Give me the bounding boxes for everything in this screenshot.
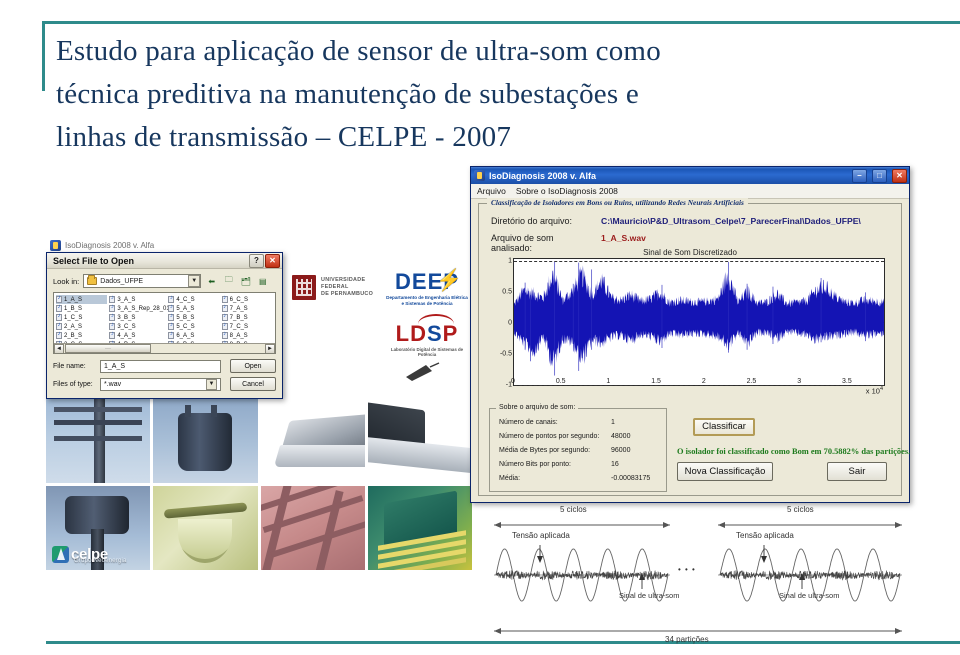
waveform-band xyxy=(514,265,884,367)
wav-file-icon xyxy=(168,305,174,312)
file-list-item[interactable]: 4_C_S xyxy=(168,295,219,304)
directory-label: Diretório do arquivo: xyxy=(491,216,595,226)
file-dialog-titlebar: Select File to Open ? ✕ xyxy=(47,253,282,269)
logos-panel: UNIVERSIDADE FEDERAL DE PERNAMBUCO DEEP … xyxy=(284,265,472,400)
file-list-item-label: 5_B_S xyxy=(176,315,194,321)
stat-value: 96000 xyxy=(611,447,630,454)
scrollbar-thumb[interactable]: ··· xyxy=(65,344,151,353)
file-list-column: 6_C_S7_A_S7_B_S7_C_S8_A_S8_B_S xyxy=(222,295,273,349)
file-list-item[interactable]: 1_B_S xyxy=(56,304,107,313)
file-name-input[interactable]: 1_A_S xyxy=(100,360,221,373)
directory-row: Diretório do arquivo: C:\Mauricio\P&D_Ul… xyxy=(491,216,861,226)
file-list-item-label: 8_A_S xyxy=(230,333,248,339)
ldsp-p: P xyxy=(443,321,459,346)
file-list-item-label: 3_A_S xyxy=(117,297,135,303)
ufpe-logo: UNIVERSIDADE FEDERAL DE PERNAMBUCO xyxy=(292,275,373,300)
file-list[interactable]: 1_A_S1_B_S1_C_S2_A_S2_B_S2_C_S3_A_S3_A_S… xyxy=(53,292,276,354)
files-of-type-label: Files of type: xyxy=(53,381,95,388)
file-list-item[interactable]: 7_C_S xyxy=(222,322,273,331)
classification-result-text: O isolador foi classificado como Bom em … xyxy=(677,447,910,456)
file-list-item[interactable]: 7_B_S xyxy=(222,313,273,322)
look-in-combobox[interactable]: Dados_UFPE ▼ xyxy=(83,274,201,288)
file-list-hscrollbar[interactable]: ◄ ··· ► xyxy=(54,343,275,353)
file-list-item-label: 1_C_S xyxy=(64,315,82,321)
file-list-item-label: 4_A_S xyxy=(117,333,135,339)
exit-button[interactable]: Sair xyxy=(827,462,887,481)
menu-item-arquivo[interactable]: Arquivo xyxy=(477,186,506,196)
stat-row: Média:-0.00083175 xyxy=(499,475,660,482)
ufpe-crest-icon xyxy=(292,275,316,300)
left-accent-rule xyxy=(42,21,45,91)
ellipsis-label: • • • xyxy=(678,565,696,574)
wav-file-icon xyxy=(56,305,62,312)
deep-wordmark: DEEP ⚡ xyxy=(384,271,470,293)
file-list-item-label: 6_C_S xyxy=(230,297,248,303)
stats-legend: Sobre o arquivo de som: xyxy=(496,404,578,411)
app-icon xyxy=(474,170,485,181)
photo-tower xyxy=(261,486,365,571)
stat-row: Número de pontos por segundo:48000 xyxy=(499,433,660,440)
celpe-mark-icon xyxy=(52,546,69,563)
wav-file-icon xyxy=(109,332,115,339)
ufpe-logo-text: UNIVERSIDADE FEDERAL DE PERNAMBUCO xyxy=(321,277,373,298)
chart-waveform xyxy=(514,259,884,377)
file-name-row: File name: 1_A_S Open xyxy=(53,359,276,373)
wav-file-icon xyxy=(168,332,174,339)
files-of-type-select[interactable]: *.wav ▼ xyxy=(100,378,221,391)
look-in-value: Dados_UFPE xyxy=(100,278,143,285)
app-title: IsoDiagnosis 2008 v. Alfa xyxy=(489,171,596,181)
wav-file-icon xyxy=(109,323,115,330)
photo-laptop-right xyxy=(368,398,472,483)
x-tick: 2 xyxy=(702,378,706,385)
cycle-diagram-svg xyxy=(482,503,914,643)
file-list-item[interactable]: 7_A_S xyxy=(222,304,273,313)
maximize-icon[interactable]: □ xyxy=(872,169,887,183)
stat-key: Número Bits por ponto: xyxy=(499,461,611,468)
help-button[interactable]: ? xyxy=(249,254,264,268)
app-window-icon xyxy=(50,240,61,251)
signal-chart: Sinal de Som Discretizado 1 0.5 0 -0.5 xyxy=(489,248,891,398)
file-list-item-label: 6_A_S xyxy=(176,333,194,339)
file-list-item[interactable]: 2_A_S xyxy=(56,322,107,331)
wav-file-icon xyxy=(168,323,174,330)
file-name-label: File name: xyxy=(53,363,95,370)
scroll-left-icon[interactable]: ◄ xyxy=(54,344,64,354)
file-list-column: 1_A_S1_B_S1_C_S2_A_S2_B_S2_C_S xyxy=(56,295,107,349)
wav-file-icon xyxy=(222,323,228,330)
file-list-item-label: 3_A_S_Rep_28_01 xyxy=(117,306,169,312)
x-tick: 1 xyxy=(606,378,610,385)
stat-value: -0.00083175 xyxy=(611,475,650,482)
file-list-item-label: 3_B_S xyxy=(117,315,135,321)
stat-value: 16 xyxy=(611,461,619,468)
stat-key: Número de pontos por segundo: xyxy=(499,433,611,440)
up-one-level-icon[interactable]: 🗀 xyxy=(222,275,235,288)
lightning-bolt-icon: ⚡ xyxy=(436,270,463,291)
wav-file-icon xyxy=(168,296,174,303)
y-tick-m1: -1 xyxy=(492,382,512,389)
file-list-columns: 1_A_S1_B_S1_C_S2_A_S2_B_S2_C_S3_A_S3_A_S… xyxy=(54,293,275,349)
page-title: Estudo para aplicação de sensor de ultra… xyxy=(56,30,896,159)
x-tick: 0 xyxy=(511,378,515,385)
file-list-item[interactable]: 5_B_S xyxy=(168,313,219,322)
file-list-item[interactable]: 5_C_S xyxy=(168,322,219,331)
app-body: Classificação de Isoladores em Bons ou R… xyxy=(471,199,909,501)
y-tick-0: 0 xyxy=(492,320,512,327)
applied-voltage-label-left: Tensão aplicada xyxy=(512,531,570,540)
y-tick-0p5: 0.5 xyxy=(492,289,512,296)
cancel-button[interactable]: Cancel xyxy=(230,377,276,391)
ldsp-d: D xyxy=(410,321,427,346)
stat-key: Número de canais: xyxy=(499,419,611,426)
celpe-tagline: Grupo Neoenergia xyxy=(74,558,127,564)
app-titlebar: IsoDiagnosis 2008 v. Alfa – □ ✕ xyxy=(471,167,909,184)
files-of-type-value: *.wav xyxy=(104,381,121,388)
top-accent-rule xyxy=(42,21,960,24)
wav-file-icon xyxy=(56,323,62,330)
select-file-dialog[interactable]: Select File to Open ? ✕ Look in: Dados_U… xyxy=(46,252,283,399)
wav-file-icon xyxy=(109,305,115,312)
isodiagnosis-window[interactable]: IsoDiagnosis 2008 v. Alfa – □ ✕ Arquivo … xyxy=(470,166,910,503)
file-list-item-label: 2_B_S xyxy=(64,333,82,339)
slide-canvas: Estudo para aplicação de sensor de ultra… xyxy=(0,0,960,655)
back-icon[interactable]: ⬅ xyxy=(205,275,218,288)
ufpe-line-2: FEDERAL xyxy=(321,284,373,291)
file-list-item-label: 1_B_S xyxy=(64,306,82,312)
partitions-label: 34 partições xyxy=(665,635,709,644)
scroll-right-icon[interactable]: ► xyxy=(265,344,275,354)
file-list-item[interactable]: 8_A_S xyxy=(222,331,273,340)
x-tick: 3 xyxy=(797,378,801,385)
stat-key: Média: xyxy=(499,475,611,482)
x-tick: 2.5 xyxy=(747,378,757,385)
file-dialog-title: Select File to Open xyxy=(53,256,134,266)
host-window-strip: IsoDiagnosis 2008 v. Alfa xyxy=(46,238,283,252)
applied-voltage-label-right: Tensão aplicada xyxy=(736,531,794,540)
wav-file-icon xyxy=(222,305,228,312)
celpe-logo: celpe Grupo Neoenergia xyxy=(52,546,108,563)
deep-subtitle: Departamento de Engenharia Elétrica e Si… xyxy=(384,295,470,307)
file-list-item[interactable]: 4_A_S xyxy=(109,331,166,340)
wav-file-icon xyxy=(56,314,62,321)
ldsp-s: S xyxy=(427,321,443,346)
stat-row: Número Bits por ponto:16 xyxy=(499,461,660,468)
file-list-item[interactable]: 1_C_S xyxy=(56,313,107,322)
look-in-label: Look in: xyxy=(53,277,79,286)
photo-transformer-top xyxy=(153,398,257,483)
close-icon-app[interactable]: ✕ xyxy=(892,169,907,183)
file-list-column: 4_C_S5_A_S5_B_S5_C_S6_A_S6_B_S xyxy=(168,295,219,349)
file-list-item[interactable]: 3_B_S xyxy=(109,313,166,322)
views-icon[interactable]: ▤ xyxy=(256,275,269,288)
stat-value: 1 xyxy=(611,419,615,426)
file-list-item[interactable]: 6_C_S xyxy=(222,295,273,304)
file-list-item[interactable]: 3_C_S xyxy=(109,322,166,331)
file-list-item[interactable]: 6_A_S xyxy=(168,331,219,340)
ufpe-line-3: DE PERNAMBUCO xyxy=(321,291,373,298)
chevron-down-icon-2[interactable]: ▼ xyxy=(206,379,217,390)
file-list-item-label: 1_A_S xyxy=(64,297,82,303)
file-list-item-label: 2_A_S xyxy=(64,324,82,330)
groupbox-legend: Classificação de Isoladores em Bons ou R… xyxy=(487,198,748,207)
ultrasound-cycle-diagram: 5 ciclos 5 ciclos Tensão aplicada Tensão… xyxy=(482,503,914,643)
look-in-row: Look in: Dados_UFPE ▼ ⬅ 🗀 🗂 ▤ xyxy=(53,274,276,288)
cycles-label-left: 5 ciclos xyxy=(560,505,587,514)
close-icon[interactable]: ✕ xyxy=(265,254,280,268)
wav-file-icon xyxy=(56,332,62,339)
new-folder-icon[interactable]: 🗂 xyxy=(239,275,252,288)
wav-file-icon xyxy=(222,296,228,303)
stat-value: 48000 xyxy=(611,433,630,440)
file-list-item-label: 7_A_S xyxy=(230,306,248,312)
sound-file-stats-group: Sobre o arquivo de som: Número de canais… xyxy=(489,408,667,492)
stat-key: Média de Bytes por segundo: xyxy=(499,447,611,454)
file-list-item-label: 4_C_S xyxy=(176,297,194,303)
stat-row: Número de canais:1 xyxy=(499,419,660,426)
file-list-item-label: 5_A_S xyxy=(176,306,194,312)
wav-file-icon xyxy=(222,332,228,339)
folder-icon xyxy=(87,277,97,285)
directory-value: C:\Mauricio\P&D_Ultrasom_Celpe\7_Parecer… xyxy=(601,216,861,226)
chart-plot-area: 1 0.5 0 -0.5 -1 xyxy=(513,258,885,386)
file-list-item-label: 3_C_S xyxy=(117,324,135,330)
sound-file-value: 1_A_S.wav xyxy=(601,233,646,243)
deep-logo: DEEP ⚡ Departamento de Engenharia Elétri… xyxy=(384,271,470,307)
pointer-device-icon xyxy=(402,361,442,383)
ufpe-line-1: UNIVERSIDADE xyxy=(321,277,373,284)
wav-file-icon xyxy=(109,296,115,303)
host-window-title: IsoDiagnosis 2008 v. Alfa xyxy=(65,241,154,250)
file-list-item-label: 7_C_S xyxy=(230,324,248,330)
x-exponent-base: x 10 xyxy=(866,387,880,396)
open-button[interactable]: Open xyxy=(230,359,276,373)
file-list-item[interactable]: 3_A_S xyxy=(109,295,166,304)
file-dialog-footer: File name: 1_A_S Open Files of type: *.w… xyxy=(53,359,276,391)
photo-transformer-celpe: celpe Grupo Neoenergia xyxy=(46,486,150,571)
y-tick-1: 1 xyxy=(492,258,512,265)
ldsp-wordmark: LDSP xyxy=(384,323,470,345)
app-menubar[interactable]: Arquivo Sobre o IsoDiagnosis 2008 xyxy=(471,184,909,199)
file-list-item[interactable]: 1_A_S xyxy=(56,295,107,304)
photo-circuit-board xyxy=(368,486,472,571)
x-axis-exponent: x 104 xyxy=(866,386,883,396)
x-tick: 3.5 xyxy=(842,378,852,385)
wav-file-icon xyxy=(109,314,115,321)
minimize-icon[interactable]: – xyxy=(852,169,867,183)
x-tick: 1.5 xyxy=(651,378,661,385)
photo-insulator xyxy=(153,486,257,571)
ultrasound-label-right: Sinal de ultra-som xyxy=(779,591,839,600)
chart-title: Sinal de Som Discretizado xyxy=(489,248,891,257)
chevron-down-icon[interactable]: ▼ xyxy=(188,275,200,287)
files-of-type-row: Files of type: *.wav ▼ Cancel xyxy=(53,377,276,391)
classify-button[interactable]: Classificar xyxy=(693,418,755,436)
photo-laptop-left xyxy=(261,398,365,483)
menu-item-sobre[interactable]: Sobre o IsoDiagnosis 2008 xyxy=(516,186,618,196)
ldsp-subtitle: Laboratório Digital de Sistemas de Potên… xyxy=(384,347,470,357)
cycles-label-right: 5 ciclos xyxy=(787,505,814,514)
file-list-item[interactable]: 5_A_S xyxy=(168,304,219,313)
ultrasound-label-left: Sinal de ultra-som xyxy=(619,591,679,600)
wav-file-icon xyxy=(56,296,62,303)
wav-file-icon xyxy=(168,314,174,321)
ldsp-l: L xyxy=(396,321,410,346)
file-list-item-label: 7_B_S xyxy=(230,315,248,321)
new-classification-button[interactable]: Nova Classificação xyxy=(677,462,773,481)
chart-x-axis: 00.511.522.533.5 xyxy=(513,378,885,390)
y-tick-m0p5: -0.5 xyxy=(492,351,512,358)
x-tick: 0.5 xyxy=(556,378,566,385)
file-list-column: 3_A_S3_A_S_Rep_28_013_B_S3_C_S4_A_S4_B_S xyxy=(109,295,166,349)
wav-file-icon xyxy=(222,314,228,321)
file-list-item[interactable]: 2_B_S xyxy=(56,331,107,340)
file-list-item[interactable]: 3_A_S_Rep_28_01 xyxy=(109,304,166,313)
classification-groupbox: Classificação de Isoladores em Bons ou R… xyxy=(478,203,902,496)
file-list-item-label: 5_C_S xyxy=(176,324,194,330)
stat-row: Média de Bytes por segundo:96000 xyxy=(499,447,660,454)
x-exponent-power: 4 xyxy=(880,386,883,392)
ldsp-logo: LDSP Laboratório Digital de Sistemas de … xyxy=(384,323,470,357)
photo-mosaic: celpe Grupo Neoenergia xyxy=(46,398,472,570)
file-dialog-body: Look in: Dados_UFPE ▼ ⬅ 🗀 🗂 ▤ 1_A_S1_B_S… xyxy=(47,269,282,400)
photo-utility-pole xyxy=(46,398,150,483)
